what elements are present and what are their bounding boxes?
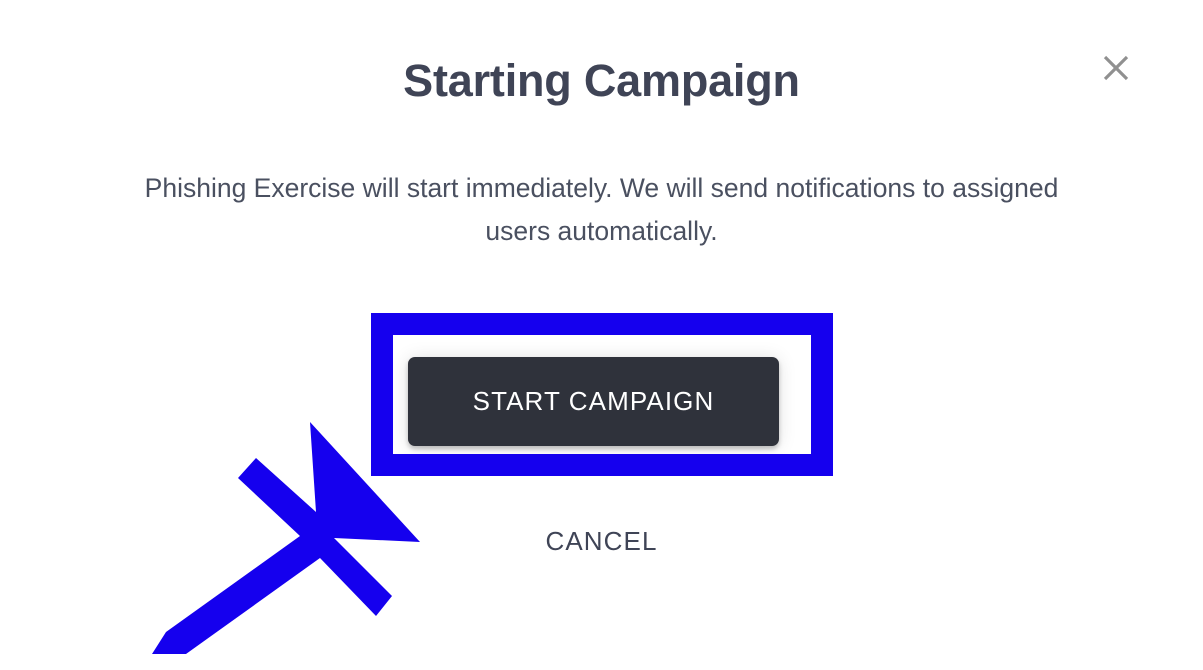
start-campaign-button[interactable]: START CAMPAIGN bbox=[408, 357, 779, 446]
starting-campaign-dialog: Starting Campaign Phishing Exercise will… bbox=[0, 0, 1203, 670]
page-title: Starting Campaign bbox=[0, 55, 1203, 107]
cancel-button[interactable]: CANCEL bbox=[0, 526, 1203, 557]
dialog-message: Phishing Exercise will start immediately… bbox=[137, 167, 1067, 253]
